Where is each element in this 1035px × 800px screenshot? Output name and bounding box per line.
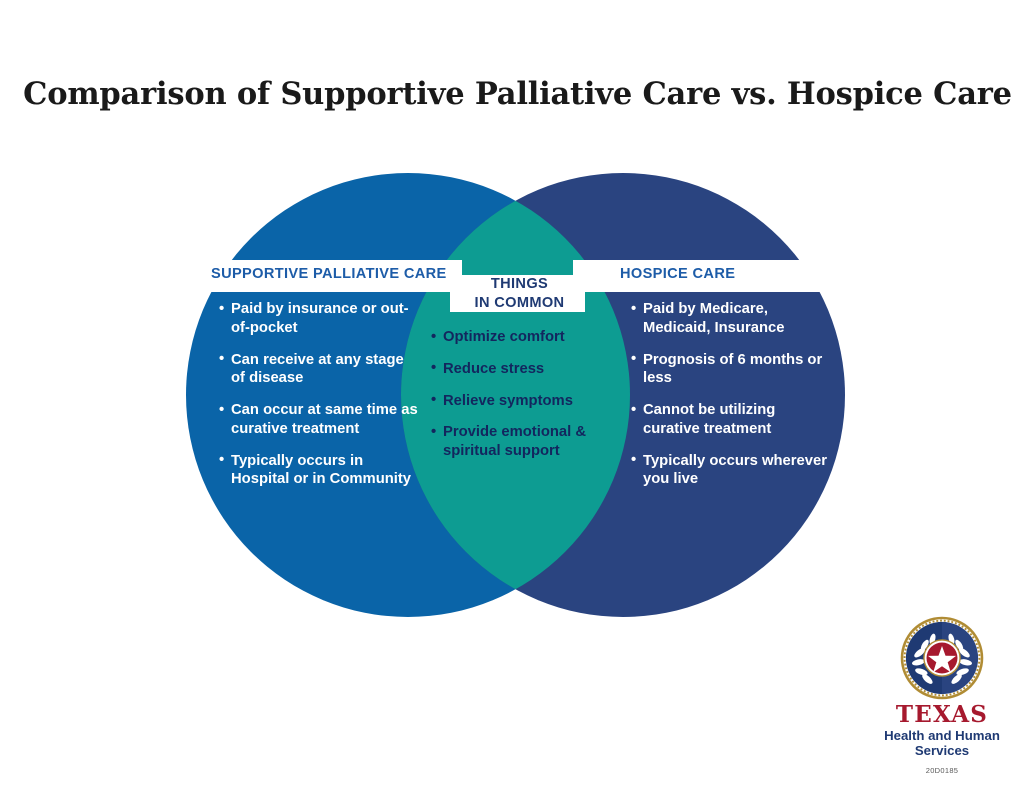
list-item: Paid by Medicare, Medicaid, Insurance (631, 300, 836, 338)
texas-seal-icon (899, 615, 985, 701)
list-item: Can receive at any stage of disease (219, 351, 419, 389)
infographic-page: Comparison of Supportive Palliative Care… (0, 0, 1035, 800)
right-bullet-list: Paid by Medicare, Medicaid, Insurance Pr… (631, 300, 836, 489)
list-item: Reduce stress (431, 360, 611, 379)
logo-subtitle-line1: Health and Human (862, 728, 1022, 743)
list-item: Prognosis of 6 months or less (631, 351, 836, 389)
right-circle-header: HOSPICE CARE (620, 266, 735, 282)
list-item: Optimize comfort (431, 328, 611, 347)
left-circle-content: Paid by insurance or out-of-pocket Can r… (219, 300, 419, 489)
list-item: Cannot be utilizing curative treatment (631, 401, 836, 439)
center-header-line1: THINGS (452, 275, 587, 294)
left-circle-header: SUPPORTIVE PALLIATIVE CARE (211, 266, 447, 282)
list-item: Typically occurs wherever you live (631, 452, 836, 490)
logo-subtitle-line2: Services (862, 743, 1022, 758)
right-circle-content: Paid by Medicare, Medicaid, Insurance Pr… (631, 300, 836, 489)
logo-wordmark: TEXAS (862, 703, 1022, 727)
logo-subtitle: Health and Human Services (862, 728, 1022, 759)
list-item: Provide emotional & spiritual support (431, 423, 611, 461)
center-header-line2: IN COMMON (452, 294, 587, 313)
center-bullet-list: Optimize comfort Reduce stress Relieve s… (431, 328, 611, 461)
texas-hhs-logo: TEXAS Health and Human Services 20D0185 (862, 615, 1022, 775)
overlap-content: Optimize comfort Reduce stress Relieve s… (431, 328, 611, 461)
center-header: THINGS IN COMMON (452, 275, 587, 314)
list-item: Relieve symptoms (431, 392, 611, 411)
document-code: 20D0185 (862, 766, 1022, 775)
list-item: Paid by insurance or out-of-pocket (219, 300, 419, 338)
left-bullet-list: Paid by insurance or out-of-pocket Can r… (219, 300, 419, 489)
list-item: Can occur at same time as curative treat… (219, 401, 419, 439)
list-item: Typically occurs in Hospital or in Commu… (219, 452, 419, 490)
